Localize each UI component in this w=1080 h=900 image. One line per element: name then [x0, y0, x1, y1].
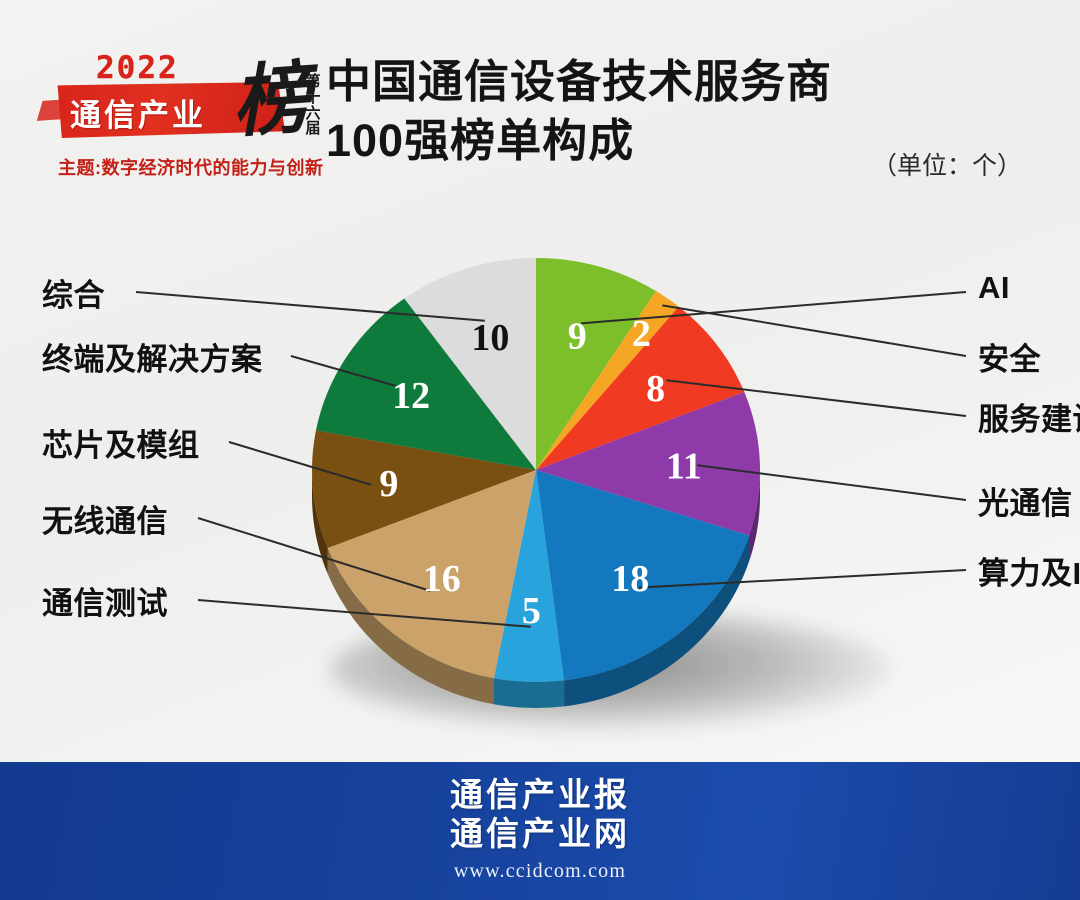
pie-label-综合[interactable]: 综合 — [0, 270, 372, 315]
pie-value-label-8: 12 — [392, 375, 430, 417]
pie-label-算力及IT[interactable]: 算力及IT — [978, 548, 1080, 593]
pie-value-label-5: 5 — [522, 590, 541, 632]
footer-content: 通信产业报 通信产业网 www.ccidcom.com — [0, 776, 1080, 883]
pie-label-AI[interactable]: AI — [978, 270, 1010, 306]
pie-label-通信测试[interactable]: 通信测试 — [0, 578, 372, 623]
infographic-root: 2022 通信产业 榜 第十六届 主题:数字经济时代的能力与创新 中国通信设备技… — [0, 0, 1080, 900]
unit-note: （单位：个） — [872, 146, 1022, 182]
logo-subtitle: 主题:数字经济时代的能力与创新 — [58, 154, 324, 180]
logo-bang-character: 榜 — [229, 59, 312, 142]
logo-main-text: 通信产业 — [70, 90, 206, 135]
pie-label-芯片及模组[interactable]: 芯片及模组 — [0, 420, 372, 465]
pie-value-label-7: 9 — [379, 463, 398, 505]
pie-label-安全[interactable]: 安全 — [978, 334, 1041, 379]
pie-chart: 928111851691210 AI安全服务建设运维光通信算力及IT综合终端及解… — [0, 210, 1080, 760]
pie-value-label-2: 8 — [646, 368, 665, 410]
page-title-line1: 中国通信设备技术服务商 — [326, 56, 832, 107]
pie-value-label-1: 2 — [632, 313, 651, 355]
logo-year: 2022 — [96, 50, 179, 86]
pie-label-终端及解决方案[interactable]: 终端及解决方案 — [0, 334, 372, 379]
page-title-line2: 100强榜单构成 — [326, 111, 832, 170]
pie-value-label-6: 16 — [423, 558, 461, 600]
footer-brand-website: 通信产业网 — [0, 815, 1080, 854]
pie-label-光通信[interactable]: 光通信 — [978, 478, 1073, 523]
pie-label-无线通信[interactable]: 无线通信 — [0, 496, 372, 541]
pie-value-label-3: 11 — [666, 446, 702, 488]
footer-url[interactable]: www.ccidcom.com — [0, 860, 1080, 883]
page-title: 中国通信设备技术服务商 100强榜单构成 — [326, 52, 832, 171]
pie-value-label-0: 9 — [568, 316, 587, 358]
pie-label-服务建设运维[interactable]: 服务建设运维 — [978, 394, 1080, 439]
pie-slice-depth — [494, 678, 564, 708]
logo-ordinal-text: 第十六届 — [302, 74, 324, 137]
publication-logo: 2022 通信产业 榜 第十六届 主题:数字经济时代的能力与创新 — [36, 38, 326, 188]
pie-value-label-4: 18 — [611, 558, 649, 600]
pie-value-label-9: 10 — [471, 317, 509, 359]
footer-brand-newspaper: 通信产业报 — [0, 776, 1080, 815]
footer-banner: 通信产业报 通信产业网 www.ccidcom.com — [0, 762, 1080, 900]
